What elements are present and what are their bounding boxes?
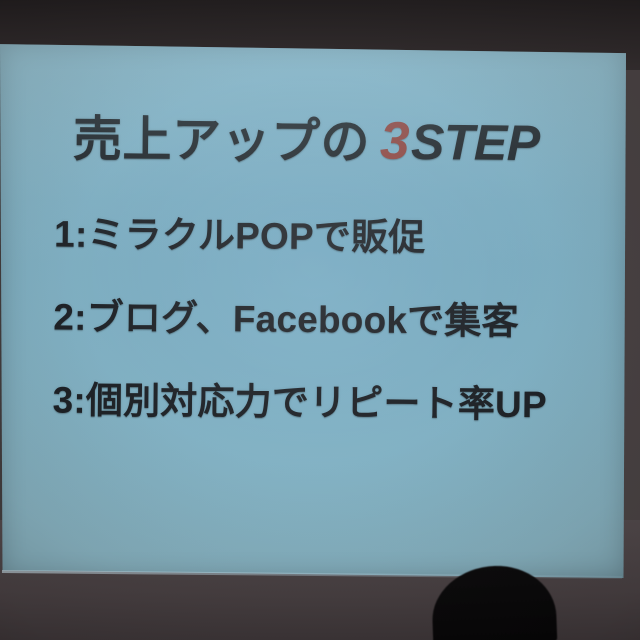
slide-title-number: 3 [370, 112, 412, 171]
projection-screen-wrap: 売上アップの3STEP 1:ミラクルPOPで販促 2:ブログ、Facebookで… [0, 0, 640, 640]
slide-title: 売上アップの3STEP [73, 100, 540, 175]
list-item: 2:ブログ、Facebookで集客 [53, 287, 548, 346]
slide-title-prefix: 売上アップの [73, 113, 371, 170]
list-item: 1:ミラクルPOPで販促 [54, 204, 549, 263]
photo-scene: 売上アップの3STEP 1:ミラクルPOPで販促 2:ブログ、Facebookで… [0, 0, 640, 640]
slide-title-suffix: STEP [411, 114, 540, 171]
slide-content: 売上アップの3STEP 1:ミラクルPOPで販促 2:ブログ、Facebookで… [0, 43, 626, 584]
projection-screen: 売上アップの3STEP 1:ミラクルPOPで販促 2:ブログ、Facebookで… [0, 43, 626, 578]
slide-bullet-list: 1:ミラクルPOPで販促 2:ブログ、Facebookで集客 3:個別対応力でリ… [52, 204, 548, 429]
list-item: 3:個別対応力でリピート率UP [52, 370, 547, 429]
